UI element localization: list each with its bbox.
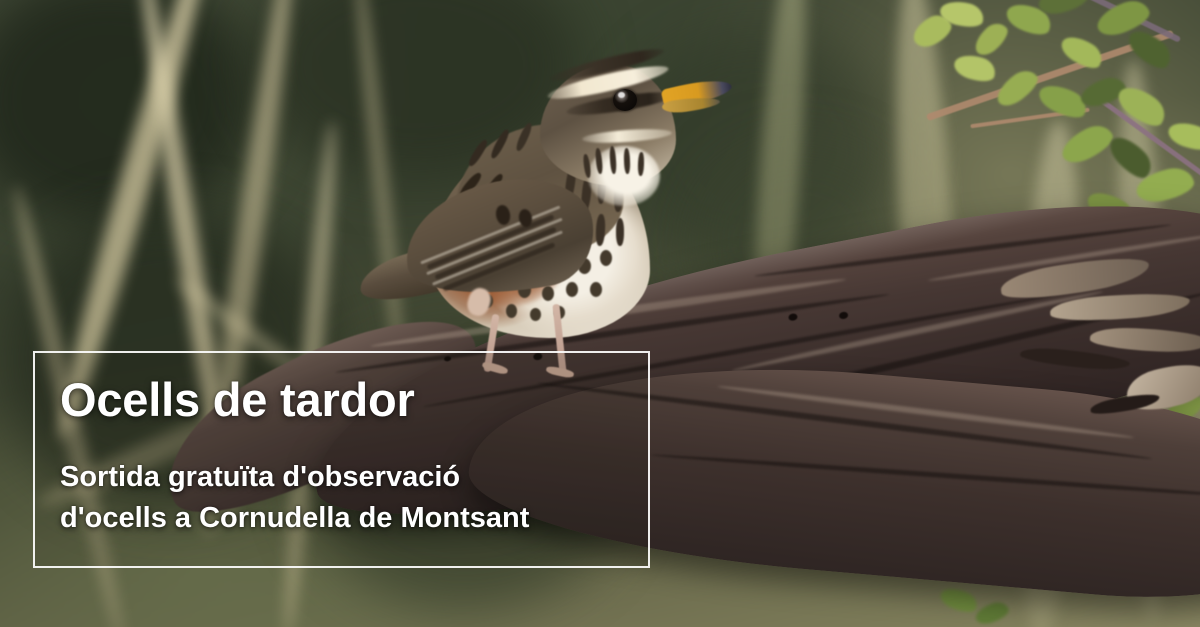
subtitle-line-2: d'ocells a Cornudella de Montsant [60, 498, 660, 539]
page-title: Ocells de tardor [60, 376, 660, 423]
title-block: Ocells de tardor [60, 376, 660, 423]
bird-eye [613, 89, 637, 111]
subtitle-line-1: Sortida gratuïta d'observació [60, 457, 660, 498]
subtitle-block: Sortida gratuïta d'observació d'ocells a… [60, 457, 660, 539]
promo-banner: Ocells de tardor Sortida gratuïta d'obse… [0, 0, 1200, 627]
redwing-bird [370, 42, 740, 372]
bird-eye-glint [618, 92, 625, 98]
